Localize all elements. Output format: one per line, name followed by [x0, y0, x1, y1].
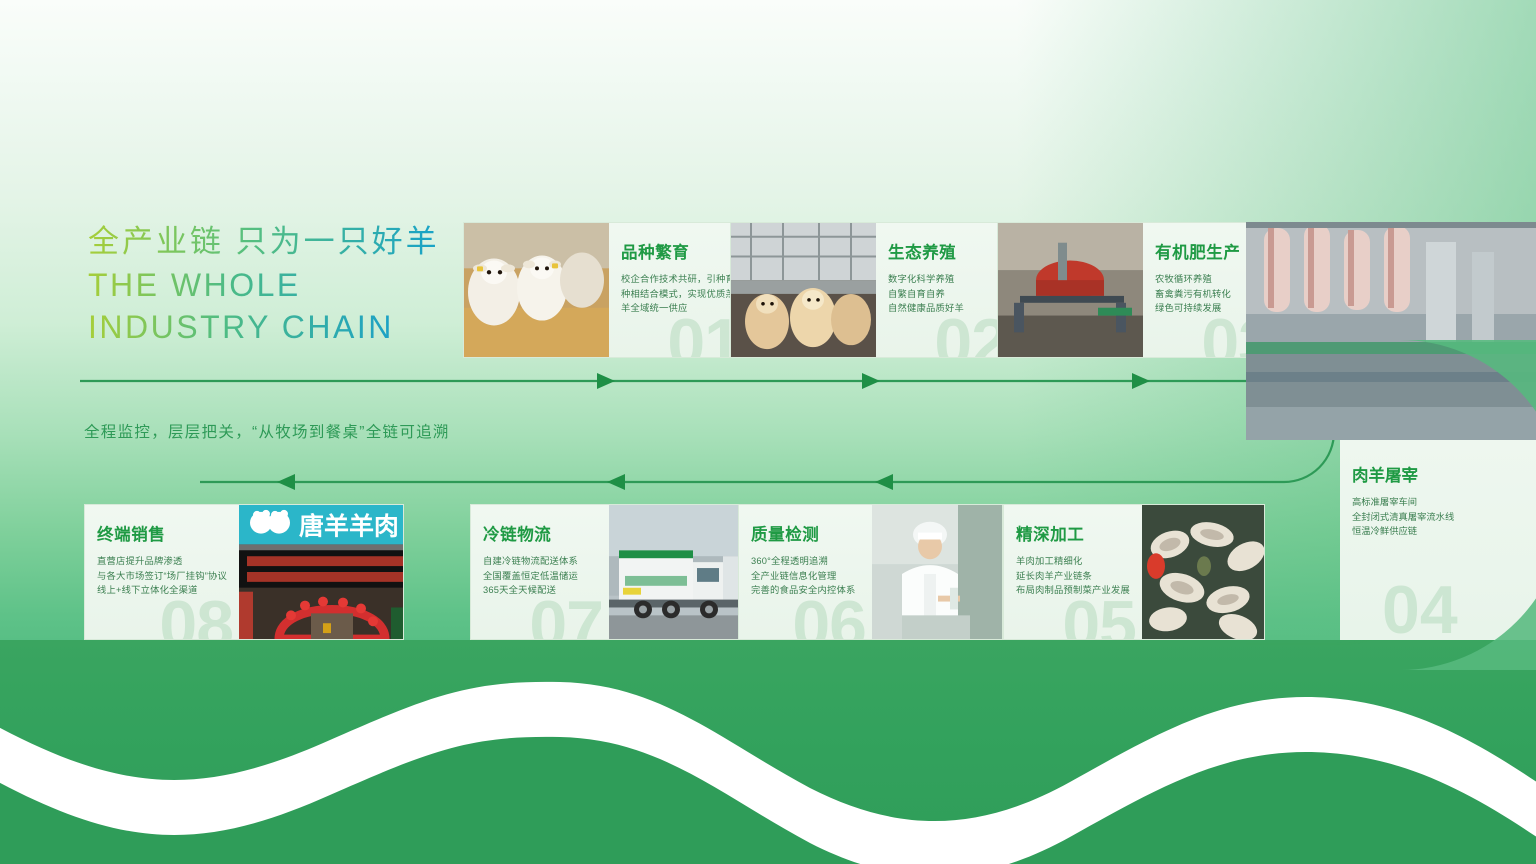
step-card-08-body: 终端销售 直营店提升品牌渗透 与各大市场签订“场厂挂钩”协议 线上+线下立体化全…	[85, 505, 239, 639]
arrow-left-2	[607, 474, 625, 490]
step-card-04[interactable]: 肉羊屠宰 高标准屠宰车间 全封闭式清真屠宰流水线 恒温冷鲜供应链 04	[1340, 440, 1536, 640]
storefront-sign-text: 唐羊羊肉	[299, 512, 399, 541]
step-card-05-title: 精深加工	[1016, 521, 1130, 545]
step-card-02[interactable]: 生态养殖 数字化科学养殖 自繁自育自养 自然健康品质好羊 02	[730, 222, 1015, 358]
refrigerated-truck-photo	[609, 505, 754, 639]
step-card-04-lines: 高标准屠宰车间 全封闭式清真屠宰流水线 恒温冷鲜供应链	[1352, 495, 1536, 539]
arrow-right-1	[597, 373, 615, 389]
step-card-07-title: 冷链物流	[483, 521, 597, 545]
step-card-01-title: 品种繁育	[621, 239, 735, 263]
step-card-02-title: 生态养殖	[888, 239, 1002, 263]
processed-meat-photo	[1142, 505, 1265, 639]
step-card-06-title: 质量检测	[751, 521, 860, 545]
step-card-08[interactable]: 终端销售 直营店提升品牌渗透 与各大市场签订“场厂挂钩”协议 线上+线下立体化全…	[84, 504, 404, 640]
infographic-canvas: 全产业链 只为一只好羊 THE WHOLE INDUSTRY CHAIN 全程监…	[0, 0, 1536, 864]
step-card-08-number: 08	[159, 591, 233, 640]
step-card-07-number: 07	[529, 591, 603, 640]
arrow-right-3	[1132, 373, 1150, 389]
step-card-01[interactable]: 品种繁育 校企合作技术共研，引种育 种相结合模式，实现优质羔 羊全域统一供应 0…	[463, 222, 748, 358]
fertilizer-machine-photo	[998, 223, 1143, 357]
lab-inspector-photo	[872, 505, 1002, 639]
arrow-right-2	[862, 373, 880, 389]
arrow-left-1	[875, 474, 893, 490]
step-card-05-number: 05	[1062, 591, 1136, 640]
sheep-barn-photo	[731, 223, 876, 357]
lambs-in-pen-photo	[464, 223, 609, 357]
step-card-05[interactable]: 精深加工 羊肉加工精细化 延长肉羊产业链条 布局肉制品预制菜产业发展 05	[1003, 504, 1265, 640]
retail-storefront-photo: 唐羊羊肉	[239, 505, 404, 639]
step-card-07[interactable]: 冷链物流 自建冷链物流配送体系 全国覆盖恒定低温储运 365天全天候配送 07	[470, 504, 755, 640]
step-card-08-title: 终端销售	[97, 521, 227, 545]
step-card-02-body: 生态养殖 数字化科学养殖 自繁自育自养 自然健康品质好羊 02	[876, 223, 1014, 357]
step-card-06-body: 质量检测 360°全程透明追溯 全产业链信息化管理 完善的食品安全内控体系 06	[739, 505, 872, 639]
arrow-left-3	[277, 474, 295, 490]
step-card-07-body: 冷链物流 自建冷链物流配送体系 全国覆盖恒定低温储运 365天全天候配送 07	[471, 505, 609, 639]
step-card-01-body: 品种繁育 校企合作技术共研，引种育 种相结合模式，实现优质羔 羊全域统一供应 0…	[609, 223, 747, 357]
step-card-06-number: 06	[792, 591, 866, 640]
step-card-04-title: 肉羊屠宰	[1352, 462, 1536, 486]
step-card-04-number: 04	[1382, 576, 1458, 640]
step-card-05-body: 精深加工 羊肉加工精细化 延长肉羊产业链条 布局肉制品预制菜产业发展 05	[1004, 505, 1142, 639]
step-card-06[interactable]: 质量检测 360°全程透明追溯 全产业链信息化管理 完善的食品安全内控体系 06	[738, 504, 1003, 640]
